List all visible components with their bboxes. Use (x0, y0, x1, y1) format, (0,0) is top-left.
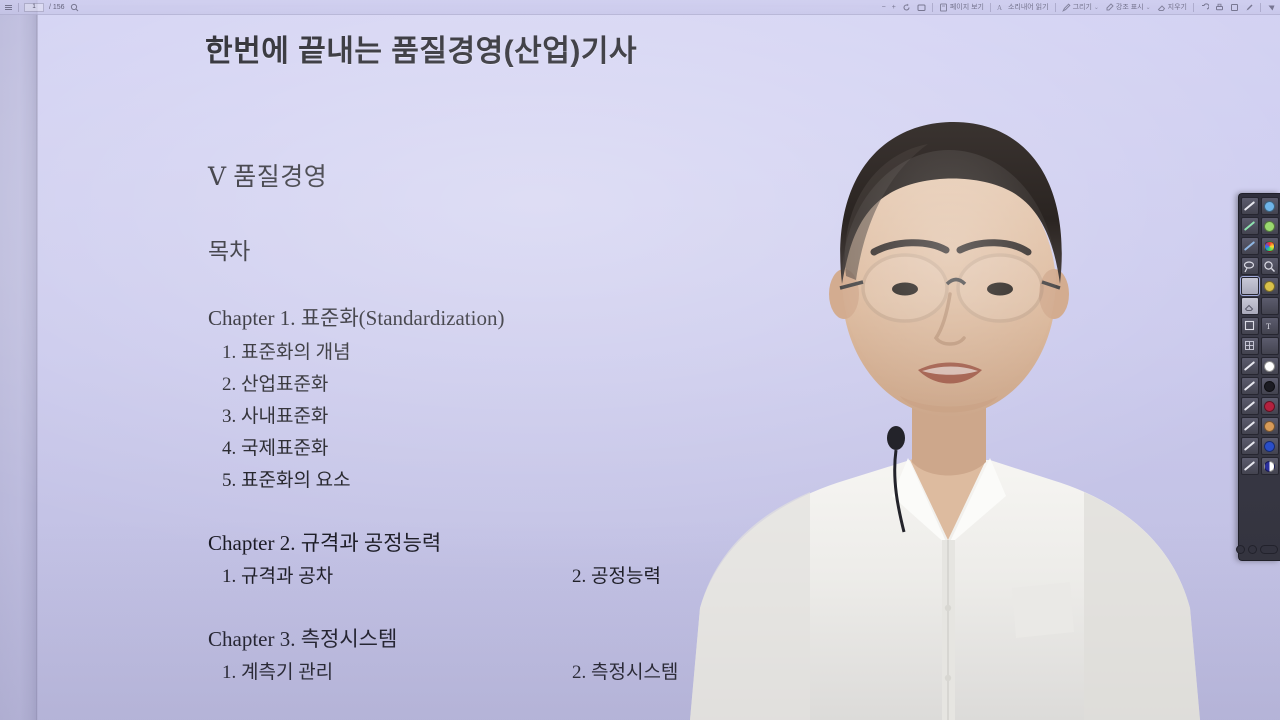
toolbar-divider (18, 3, 19, 12)
draw-label: 그리기 (1073, 2, 1092, 12)
page-view-button[interactable]: 페이지 보기 (939, 2, 984, 12)
toc-item-3-2: 2. 측정시스템 (572, 657, 678, 684)
select-tool[interactable] (1241, 257, 1259, 275)
section-heading: Ⅴ 품질경영 (208, 157, 327, 193)
undo-icon[interactable] (1200, 3, 1209, 12)
ink-color-red[interactable] (1261, 397, 1279, 415)
text-tool[interactable]: T (1261, 317, 1279, 335)
pencil-icon (1244, 201, 1255, 211)
palette-dot-2[interactable] (1248, 545, 1257, 554)
page-number-input[interactable]: 1 (24, 3, 44, 12)
save-icon[interactable] (1230, 3, 1239, 12)
ink-row-1[interactable] (1241, 357, 1279, 375)
swatch-icon (1264, 361, 1275, 372)
palette-row-ruler[interactable] (1241, 277, 1279, 295)
highlighter-icon (1105, 3, 1114, 12)
pdf-viewer-toolbar[interactable]: 1 / 156 − + 페이지 보기 (0, 0, 1280, 15)
color-wheel-icon (1264, 241, 1275, 252)
ink-row-6[interactable] (1241, 457, 1279, 475)
sticker-icon (1264, 281, 1275, 292)
hamburger-icon[interactable] (4, 3, 13, 12)
ink-row-5[interactable] (1241, 437, 1279, 455)
read-aloud-icon: A (997, 3, 1006, 12)
toolbar-divider (932, 3, 933, 12)
toolbar-divider (1260, 3, 1261, 12)
edit-icon[interactable] (1245, 3, 1254, 12)
pen-tool-palette[interactable]: T (1238, 193, 1280, 561)
magnifier-icon (1263, 260, 1276, 273)
chapter-title-1: Chapter 1. 표준화(Standardization) (208, 302, 504, 332)
erase-button[interactable]: 지우기 (1157, 2, 1187, 12)
highlighter-icon (1244, 221, 1255, 231)
zoom-in-button[interactable]: + (892, 4, 896, 11)
toolbar-right-group: − + 페이지 보기 A 소리내어 읽기 (882, 2, 1280, 12)
swatch-icon (1264, 221, 1275, 232)
toolbar-divider (1193, 3, 1194, 12)
video-slide-stage: 한번에 끝내는 품질경영(산업)기사 Ⅴ 품질경영 목차 Chapter 1. … (0, 0, 1280, 720)
page-view-icon (939, 3, 948, 12)
slide-content: 한번에 끝내는 품질경영(산업)기사 Ⅴ 품질경영 목차 Chapter 1. … (0, 0, 1280, 720)
pen-icon (1244, 401, 1255, 411)
palette-row-shapes[interactable]: T (1241, 317, 1279, 335)
palette-blank-2 (1261, 337, 1279, 355)
shape-tool[interactable] (1241, 317, 1259, 335)
color-preview-2[interactable] (1261, 217, 1279, 235)
pen-red[interactable] (1241, 397, 1259, 415)
toolbar-divider (990, 3, 991, 12)
brush-icon (1244, 241, 1255, 251)
svg-text:T: T (1266, 322, 1271, 331)
grid-tool[interactable] (1241, 337, 1259, 355)
pencil-tool[interactable] (1241, 197, 1259, 215)
toc-label: 목차 (208, 232, 250, 266)
palette-row-eraser[interactable] (1241, 297, 1279, 315)
ink-color-blue[interactable] (1261, 437, 1279, 455)
palette-row-grid[interactable] (1241, 337, 1279, 355)
toolbar-divider (1055, 3, 1056, 12)
pen-black[interactable] (1241, 377, 1259, 395)
zoom-out-button[interactable]: − (882, 4, 886, 11)
toc-item-1-1: 1. 표준화의 개념 (222, 337, 351, 364)
print-icon[interactable] (1215, 3, 1224, 12)
search-icon[interactable] (70, 3, 79, 12)
palette-bottom-controls[interactable] (1236, 545, 1278, 554)
toolbar-left-group: 1 / 156 (0, 3, 79, 12)
pen-white[interactable] (1241, 357, 1259, 375)
highlight-button[interactable]: 강조 표시 ⌄ (1105, 2, 1151, 12)
page-view-label: 페이지 보기 (950, 2, 984, 12)
ink-color-white[interactable] (1261, 357, 1279, 375)
toc-item-1-3: 3. 사내표준화 (222, 401, 328, 428)
pen-blue[interactable] (1241, 437, 1259, 455)
chevron-down-icon[interactable]: ⌄ (1146, 4, 1151, 11)
pen-orange[interactable] (1241, 417, 1259, 435)
ink-row-4[interactable] (1241, 417, 1279, 435)
pen-icon (1244, 361, 1255, 371)
color-preview-1[interactable] (1261, 197, 1279, 215)
brush-tool[interactable] (1241, 237, 1259, 255)
palette-row-brush[interactable] (1241, 237, 1279, 255)
toc-item-2-1: 1. 규격과 공차 (222, 561, 333, 588)
color-wheel-button[interactable] (1261, 237, 1279, 255)
slide-title: 한번에 끝내는 품질경영(산업)기사 (205, 26, 637, 70)
read-aloud-button[interactable]: A 소리내어 읽기 (997, 2, 1049, 12)
ink-row-2[interactable] (1241, 377, 1279, 395)
pen-icon (1244, 381, 1255, 391)
swatch-icon (1264, 421, 1275, 432)
erase-label: 지우기 (1168, 2, 1187, 12)
grid-icon (1244, 340, 1256, 352)
palette-pill-button[interactable] (1260, 545, 1278, 554)
sticker-tool[interactable] (1261, 277, 1279, 295)
ink-color-navy[interactable] (1261, 457, 1279, 475)
magnifier-tool[interactable] (1261, 257, 1279, 275)
highlighter-tool[interactable] (1241, 217, 1259, 235)
pen-icon (1244, 461, 1255, 471)
svg-text:A: A (997, 4, 1002, 12)
toc-item-2-2: 2. 공정능력 (572, 561, 661, 588)
rotate-icon[interactable] (902, 3, 911, 12)
toc-item-1-2: 2. 산업표준화 (222, 369, 328, 396)
chapter-title-2: Chapter 2. 규격과 공정능력 (208, 527, 441, 557)
eraser-tool[interactable] (1241, 297, 1259, 315)
toc-item-3-1: 1. 계측기 관리 (222, 657, 333, 684)
chapter-title-3: Chapter 3. 측정시스템 (208, 623, 397, 653)
text-icon: T (1264, 320, 1276, 332)
eraser-icon (1157, 3, 1166, 12)
ink-row-3[interactable] (1241, 397, 1279, 415)
ink-color-black[interactable] (1261, 377, 1279, 395)
palette-dot-1[interactable] (1236, 545, 1245, 554)
draw-button[interactable]: 그리기 ⌄ (1062, 2, 1099, 12)
ink-color-orange[interactable] (1261, 417, 1279, 435)
palette-row-lasso[interactable] (1241, 257, 1279, 275)
highlight-label: 강조 표시 (1116, 2, 1144, 12)
pen-icon (1244, 421, 1255, 431)
ruler-tool[interactable] (1241, 277, 1259, 295)
page-total-label: / 156 (49, 4, 65, 11)
toc-item-1-5: 5. 표준화의 요소 (222, 465, 351, 492)
swatch-icon (1264, 381, 1275, 392)
toc-item-1-4: 4. 국제표준화 (222, 433, 328, 460)
palette-blank (1261, 297, 1279, 315)
lasso-icon (1243, 260, 1256, 273)
more-icon[interactable] (1267, 3, 1276, 12)
swatch-icon (1264, 201, 1275, 212)
shape-icon (1244, 320, 1256, 332)
fit-page-icon[interactable] (917, 3, 926, 12)
read-aloud-label: 소리내어 읽기 (1008, 2, 1049, 12)
pen-icon (1244, 441, 1255, 451)
eraser-icon (1244, 301, 1255, 312)
palette-row-highlighter[interactable] (1241, 217, 1279, 235)
swatch-icon (1264, 441, 1275, 452)
chevron-down-icon[interactable]: ⌄ (1094, 4, 1099, 11)
pen-navy[interactable] (1241, 457, 1259, 475)
swatch-icon (1264, 401, 1275, 412)
pen-icon (1062, 3, 1071, 12)
swatch-icon (1264, 461, 1275, 472)
palette-row-pencil[interactable] (1241, 197, 1279, 215)
